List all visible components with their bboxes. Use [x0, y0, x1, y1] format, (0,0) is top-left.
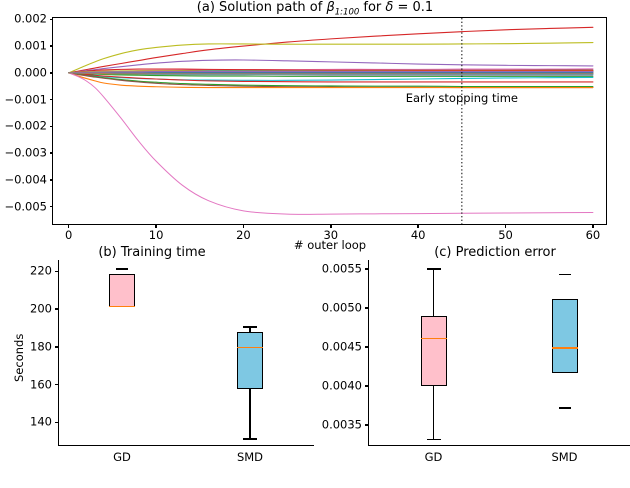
panel-b-y-axis-label: Seconds [13, 334, 25, 382]
y-tick-label: 0.0055 [310, 263, 362, 275]
whisker-lower [249, 389, 250, 439]
x-tick-mark [505, 224, 506, 228]
whisker-cap-upper [427, 268, 441, 269]
y-tick-mark [365, 424, 369, 425]
y-tick-label: 160 [0, 379, 52, 391]
panel-c-prediction-error: (c) Prediction error 0.00350.00400.00450… [310, 240, 630, 488]
y-tick-mark [55, 422, 59, 423]
early-stopping-annotation: Early stopping time [406, 92, 518, 104]
figure-canvas: (a) Solution path of β1:100 for δ = 0.1 … [0, 0, 630, 488]
y-tick-label: 0.0050 [310, 302, 362, 314]
panel-c-left-spine [368, 260, 369, 446]
beta-symbol: β [326, 0, 334, 15]
y-tick-label: 0.000 [0, 67, 47, 79]
y-tick-label: −0.002 [0, 121, 47, 133]
x-tick-mark [417, 224, 418, 228]
x-tick-mark [243, 224, 244, 228]
y-tick-label: 180 [0, 341, 52, 353]
box-smd [237, 332, 263, 388]
y-tick-label: 0.002 [0, 14, 47, 26]
median-line [237, 347, 263, 348]
box-gd [421, 316, 447, 386]
y-tick-label: 140 [0, 417, 52, 429]
solution-path-line [69, 27, 593, 72]
y-tick-mark [365, 307, 369, 308]
flier-marker [559, 274, 571, 275]
median-line [109, 306, 135, 307]
delta-symbol: δ [385, 0, 393, 15]
x-tick-label-gd: GD [113, 452, 131, 464]
y-tick-mark [365, 268, 369, 269]
panel-b-bottom-spine [58, 445, 314, 446]
x-tick-label-smd: SMD [237, 452, 263, 464]
y-tick-label: 220 [0, 266, 52, 278]
x-tick-label-gd: GD [425, 452, 443, 464]
panel-b-left-spine [58, 260, 59, 446]
y-tick-label: −0.003 [0, 147, 47, 159]
y-tick-label: −0.001 [0, 94, 47, 106]
whisker-cap-lower [243, 438, 257, 439]
panel-c-title: (c) Prediction error [434, 246, 556, 260]
x-tick-mark [592, 224, 593, 228]
y-tick-mark [55, 384, 59, 385]
y-tick-label: 0.0045 [310, 341, 362, 353]
whisker-lower [433, 386, 434, 439]
panel-a-solution-path: (a) Solution path of β1:100 for δ = 0.1 … [0, 0, 630, 240]
y-tick-mark [365, 385, 369, 386]
y-tick-label: 0.0040 [310, 380, 362, 392]
whisker-cap-lower [427, 439, 441, 440]
whisker-cap-upper [243, 326, 257, 327]
solution-path-line [69, 43, 593, 73]
y-tick-label: 0.0035 [310, 419, 362, 431]
panel-a-line-paths [53, 18, 606, 224]
whisker-upper [433, 269, 434, 316]
box-gd [109, 274, 135, 307]
y-tick-label: −0.004 [0, 174, 47, 186]
y-tick-label: 200 [0, 303, 52, 315]
x-tick-mark [155, 224, 156, 228]
x-tick-label-smd: SMD [551, 452, 577, 464]
panel-a-plot-area [53, 18, 606, 224]
y-tick-label: −0.005 [0, 201, 47, 213]
panel-b-title: (b) Training time [98, 246, 205, 260]
panel-c-bottom-spine [368, 445, 630, 446]
solution-path-line [69, 73, 593, 74]
y-tick-mark [55, 271, 59, 272]
box-smd [552, 299, 578, 373]
flier-marker [559, 407, 571, 408]
y-tick-mark [55, 346, 59, 347]
x-tick-mark [68, 224, 69, 228]
flier-marker [116, 268, 128, 269]
y-tick-mark [55, 308, 59, 309]
x-tick-mark [330, 224, 331, 228]
panel-b-training-time: (b) Training time 140160180200220 GDSMD … [0, 240, 320, 488]
y-tick-mark [365, 346, 369, 347]
median-line [421, 338, 447, 339]
median-line [552, 347, 578, 348]
y-tick-label: 0.001 [0, 40, 47, 52]
